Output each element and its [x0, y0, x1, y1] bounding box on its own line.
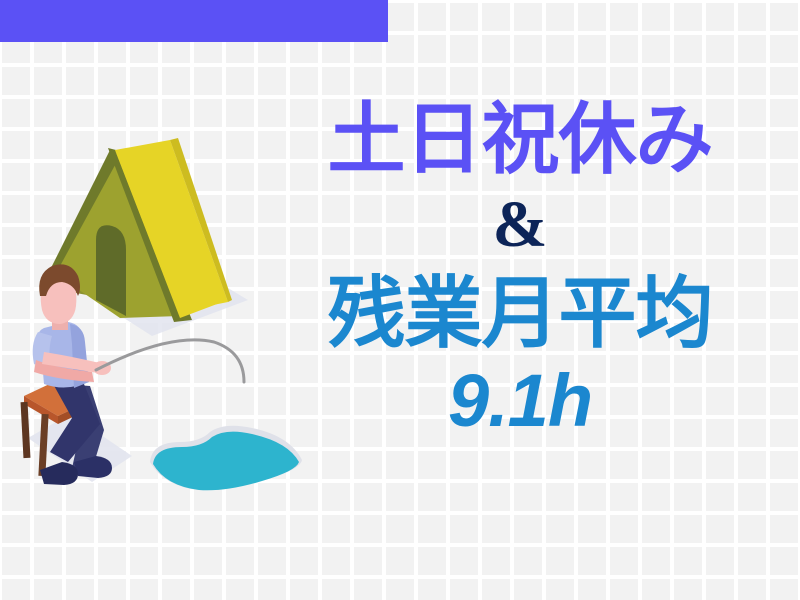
headline-separator: & [255, 183, 785, 267]
headline-line-2: 残業月平均 [255, 267, 785, 359]
poster-canvas: 土日祝休み & 残業月平均 9.1h [0, 0, 800, 600]
top-left-purple-bar [0, 0, 388, 42]
headline-text-block: 土日祝休み & 残業月平均 9.1h [255, 95, 785, 443]
headline-line-1: 土日祝休み [255, 95, 785, 183]
headline-metric-value: 9.1h [255, 359, 785, 443]
